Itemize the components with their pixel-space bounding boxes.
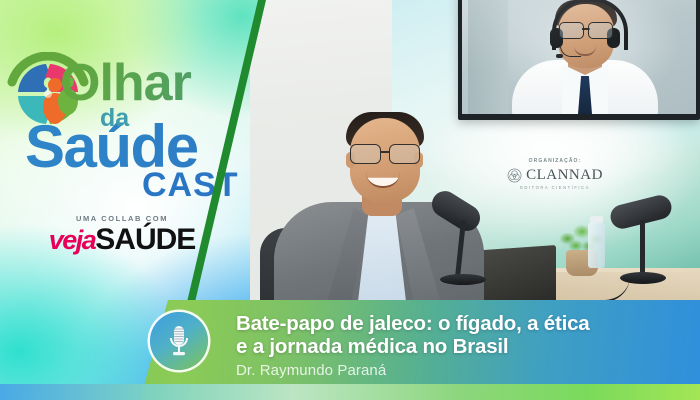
saude-text: SAÚDE [95, 225, 195, 255]
caption-title: Bate-papo de jaleco: o fígado, a ética e… [236, 312, 694, 359]
vintage-microphone-icon [150, 312, 208, 370]
remote-guest-video [462, 0, 696, 114]
caption-title-line2: e a jornada médica no Brasil [236, 335, 694, 358]
veja-saude-logo: veja SAÚDE [32, 225, 212, 255]
caption-subtitle: Dr. Raymundo Paraná [236, 362, 694, 379]
host-glasses [350, 144, 420, 162]
collab-label: UMA COLLAB COM [32, 214, 212, 223]
water-bottle [588, 222, 605, 268]
studio-microphone-right [606, 200, 676, 288]
caption-bar: Bate-papo de jaleco: o fígado, a ética e… [0, 300, 700, 400]
studio-microphone-front [428, 198, 484, 244]
caption-title-line1: Bate-papo de jaleco: o fígado, a ética [236, 312, 694, 335]
caption-bottom-strip [0, 384, 700, 400]
veja-text: veja [49, 227, 96, 254]
collab-block: UMA COLLAB COM veja SAÚDE [32, 214, 212, 255]
podcast-thumbnail: Olhar da Saúde CAST UMA COLLAB COM veja … [0, 0, 700, 400]
organization-name: CLANNAD [526, 168, 603, 183]
